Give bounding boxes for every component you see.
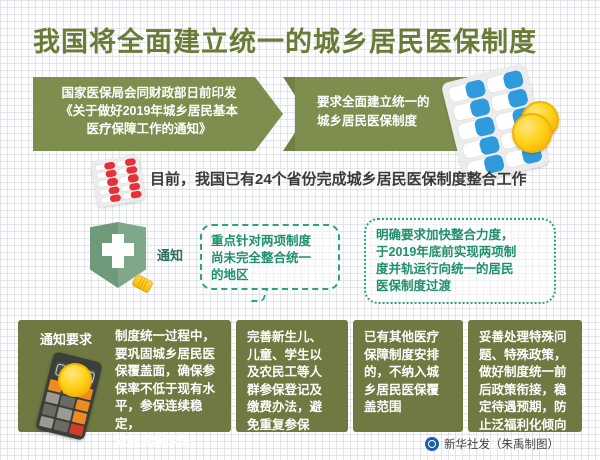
notice-bubble: 重点针对两项制度 尚未完全整合统一 的地区 — [200, 224, 340, 290]
panel-2-line-1: 完善新生儿、 — [247, 329, 339, 347]
panel-coverage-scope: 已有其他医疗 保障制度安排 的，不纳入城 乡居民医保覆 盖范围 — [353, 320, 463, 432]
panel-2-line-5: 缴费办法，避 — [247, 399, 339, 417]
coin-icon — [512, 113, 552, 153]
panel-4-line-3: 做好制度统一前 — [479, 364, 574, 382]
panel-2-line-3: 及农民工等人 — [247, 364, 339, 382]
calculator-key — [69, 423, 84, 436]
panel-1-line-5: 平，参保连续稳定， — [115, 398, 227, 433]
bubble-line-1: 重点针对两项制度 — [211, 233, 329, 250]
panel-head-label: 通知要求 — [40, 329, 92, 348]
panel-3-line-3: 的，不纳入城 — [364, 364, 455, 382]
notice-label: 通知 — [157, 245, 183, 264]
panel-3-line-1: 已有其他医疗 — [364, 329, 455, 347]
calculator-key — [72, 411, 87, 424]
panel-2-line-6: 免重复参保 — [247, 417, 339, 435]
panel-2-body: 完善新生儿、 儿童、学生以 及农民工等人 群参保登记及 缴费办法，避 免重复参保 — [247, 329, 339, 434]
statistic-line: 目前，我国已有24个省份完成城乡居民医保制度整合工作 — [150, 168, 527, 189]
requirement-line-4: 医保制度过渡 — [376, 278, 544, 295]
blister-pack-grid — [90, 154, 145, 208]
panel-registration-payment: 完善新生儿、 儿童、学生以 及农民工等人 群参保登记及 缴费办法，避 免重复参保 — [236, 320, 348, 432]
panel-3-line-2: 保障制度安排 — [364, 347, 455, 365]
calculator-key — [42, 403, 57, 416]
panel-3-body: 已有其他医疗 保障制度安排 的，不纳入城 乡居民医保覆 盖范围 — [364, 329, 455, 417]
panel-1-body: 制度统一过程中， 要巩固城乡居民医 保覆盖面，确保参 保率不低于现有水 平，参保… — [115, 328, 227, 451]
panel-3-line-4: 乡居民医保覆 — [364, 382, 455, 400]
bottom-panel-row: 通知要求 — [18, 320, 582, 432]
requirement-line-1: 明确要求加快整合力度， — [376, 227, 544, 244]
calculator-key — [54, 419, 69, 432]
panel-4-line-4: 后政策衔接，稳 — [479, 382, 574, 400]
banner-right-line-2: 城乡居民医保制度 — [317, 112, 465, 131]
calculator-icon — [35, 351, 103, 441]
blister-pack-red-icon — [90, 154, 145, 208]
banner-left-arrow: 国家医保局会同财政部日前印发 《关于做好2019年城乡居民基本 医疗保障工作的通… — [33, 77, 283, 151]
panel-1-line-1: 制度统一过程中， — [115, 328, 227, 346]
calculator-key — [75, 399, 90, 412]
calculator-key — [57, 407, 72, 420]
page-title: 我国将全面建立统一的城乡居民医保制度 — [33, 20, 573, 59]
panel-1-line-3: 保覆盖面，确保参 — [115, 363, 227, 381]
panel-1-line-6: 做到应保尽保 — [115, 433, 227, 451]
xinhua-logo-icon — [425, 437, 439, 451]
bubble-line-2: 尚未完全整合统一 — [211, 250, 329, 267]
banner-left-line-2: 《关于做好2019年城乡居民基本 — [45, 102, 253, 120]
panel-4-line-6: 止泛福利化倾向 — [479, 417, 574, 435]
calculator-key — [39, 415, 54, 428]
requirement-box: 明确要求加快整合力度， 于2019年底前实现两项制 度并轨运行向统一的居民 医保… — [364, 218, 556, 304]
credit-text: 新华社发（朱禹制图） — [444, 436, 559, 452]
panel-special-policies: 妥善处理特殊问 题、特殊政策， 做好制度统一前 后政策衔接，稳 定待遇预期，防 … — [468, 320, 582, 432]
infographic-page: 我国将全面建立统一的城乡居民医保制度 国家医保局会同财政部日前印发 《关于做好2… — [0, 0, 600, 460]
bubble-line-3: 的地区 — [211, 267, 329, 284]
requirement-line-3: 度并轨运行向统一的居民 — [376, 261, 544, 278]
panel-4-line-5: 定待遇预期，防 — [479, 399, 574, 417]
panel-4-line-2: 题、特殊政策， — [479, 347, 574, 365]
panel-1-line-2: 要巩固城乡居民医 — [115, 346, 227, 364]
cross-horizontal-bar — [102, 243, 134, 256]
requirement-line-2: 于2019年底前实现两项制 — [376, 244, 544, 261]
banner-left-line-3: 医疗保障工作的通知》 — [45, 120, 253, 138]
calculator-key — [45, 391, 60, 404]
panel-2-line-2: 儿童、学生以 — [247, 347, 339, 365]
panel-2-line-4: 群参保登记及 — [247, 382, 339, 400]
panel-4-line-1: 妥善处理特殊问 — [479, 329, 574, 347]
banner-left-line-1: 国家医保局会同财政部日前印发 — [45, 84, 253, 102]
panel-1-line-4: 保率不低于现有水 — [115, 381, 227, 399]
panel-notice-requirements: 通知要求 — [18, 320, 231, 432]
panel-3-line-5: 盖范围 — [364, 399, 455, 417]
panel-4-body: 妥善处理特殊问 题、特殊政策， 做好制度统一前 后政策衔接，稳 定待遇预期，防 … — [479, 329, 574, 434]
bubble-tail-shape — [249, 288, 268, 302]
banner-row: 国家医保局会同财政部日前印发 《关于做好2019年城乡居民基本 医疗保障工作的通… — [33, 77, 473, 151]
footer-credit: 新华社发（朱禹制图） — [425, 436, 559, 452]
gold-clip-icon — [131, 273, 154, 293]
